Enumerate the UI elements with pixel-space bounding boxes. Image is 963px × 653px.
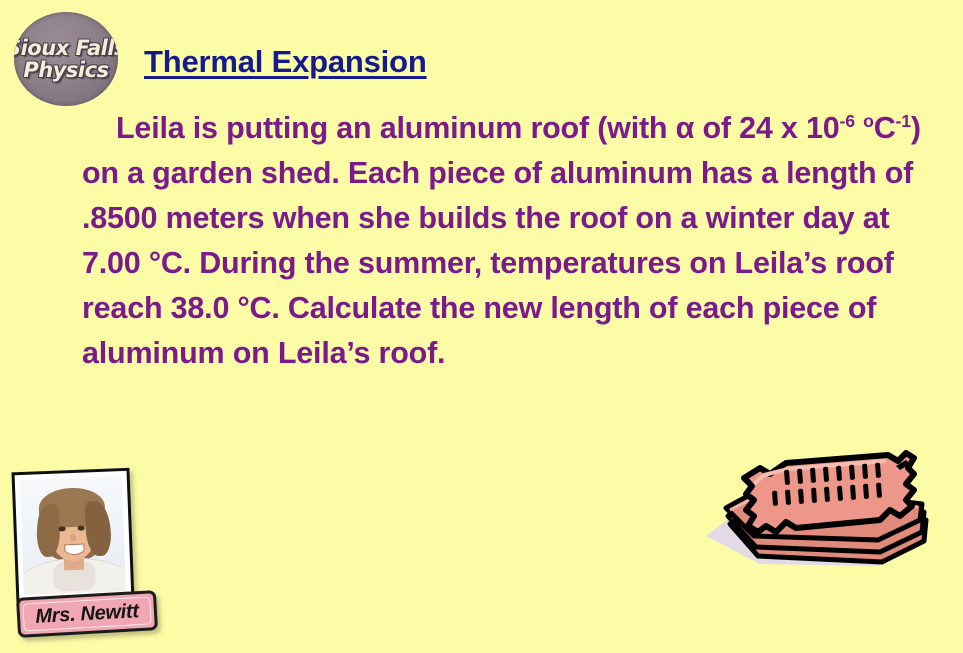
- portrait-hair-left: [36, 504, 60, 558]
- teacher-nameplate: Mrs. Newitt: [16, 590, 158, 638]
- portrait-nose: [70, 534, 75, 541]
- problem-text-part-3: ) on a garden shed. Each piece of alumin…: [82, 111, 921, 370]
- logo-line-2: Physics: [23, 59, 108, 82]
- exponent-minus-six: -6: [840, 111, 855, 131]
- degree-superscript-o: o: [863, 111, 874, 131]
- sioux-falls-physics-logo: Sioux Falls Physics: [14, 12, 118, 106]
- problem-statement: Leila is putting an aluminum roof (with …: [82, 106, 947, 376]
- teacher-photo-card: [11, 468, 134, 606]
- alpha-symbol: α: [676, 111, 695, 145]
- page-title: Thermal Expansion: [144, 44, 427, 80]
- problem-text-part-2: of 24 x 10: [694, 111, 839, 145]
- exponent-minus-one: -1: [896, 111, 911, 131]
- celsius-letter: C: [874, 111, 896, 145]
- portrait-eye-left: [58, 527, 65, 532]
- teacher-name-label: Mrs. Newitt: [35, 600, 140, 629]
- teacher-portrait: [20, 476, 126, 595]
- roof-tiles-clipart: [700, 444, 956, 594]
- problem-text-part-1: Leila is putting an aluminum roof (with: [116, 111, 676, 145]
- slide-canvas: Sioux Falls Physics Thermal Expansion Le…: [0, 0, 963, 653]
- logo-line-1: Sioux Falls: [14, 37, 118, 59]
